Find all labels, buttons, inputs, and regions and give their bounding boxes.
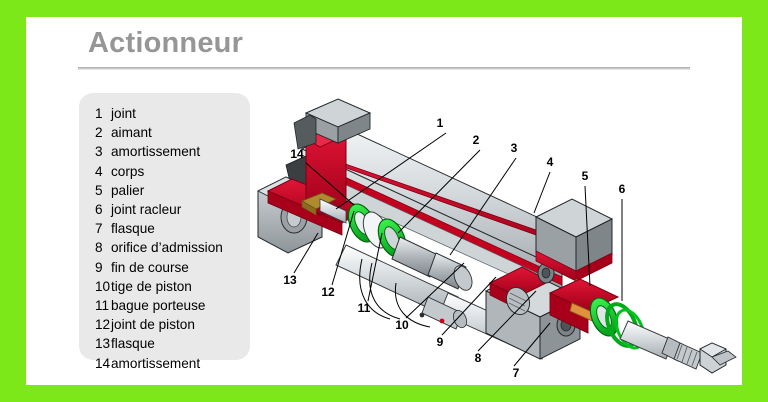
sensor-dot — [420, 313, 425, 318]
list-item: 9fin de course — [95, 258, 250, 277]
right-cap-hole-top-inner — [542, 268, 550, 278]
legend-label: amortissement — [111, 144, 200, 159]
list-item: 10tige de piston — [95, 277, 250, 296]
legend-number: 6 — [95, 200, 111, 219]
legend-label: joint racleur — [111, 202, 181, 217]
legend-label: orifice d’admission — [111, 240, 223, 255]
list-item: 2aimant — [95, 123, 250, 142]
list-item: 11bague porteuse — [95, 296, 250, 315]
output-rod-assembly — [620, 321, 736, 373]
mount-block-dark-face — [294, 115, 316, 149]
legend-number: 2 — [95, 123, 111, 142]
sensor-led — [440, 319, 445, 324]
legend-label: tige de piston — [111, 279, 192, 294]
legend-number: 5 — [95, 181, 111, 200]
callout-12: 12 — [321, 285, 335, 299]
legend-number: 4 — [95, 162, 111, 181]
legend-label: aimant — [111, 125, 152, 140]
legend-label: flasque — [111, 221, 155, 236]
legend-number: 12 — [95, 315, 111, 334]
callout-7: 7 — [513, 366, 520, 380]
legend-number: 13 — [95, 334, 111, 353]
leader-4 — [534, 172, 550, 213]
title-divider — [78, 67, 690, 70]
list-item: 1joint — [95, 104, 250, 123]
list-item: 6joint racleur — [95, 200, 250, 219]
callout-2: 2 — [473, 133, 480, 147]
list-item: 5palier — [95, 181, 250, 200]
slide-canvas: Actionneur 1joint 2aimant 3amortissement… — [26, 17, 742, 385]
legend-label: corps — [111, 164, 144, 179]
callout-3: 3 — [511, 141, 518, 155]
callout-9: 9 — [437, 335, 444, 349]
legend-label: amortissement — [111, 356, 200, 371]
callout-11: 11 — [358, 301, 371, 315]
legend-number: 7 — [95, 219, 111, 238]
parts-legend: 1joint 2aimant 3amortissement 4corps 5pa… — [79, 93, 250, 360]
callout-8: 8 — [475, 351, 482, 365]
callout-13: 13 — [283, 273, 297, 287]
callout-4: 4 — [547, 155, 554, 169]
legend-number: 3 — [95, 142, 111, 161]
list-item: 3amortissement — [95, 142, 250, 161]
legend-number: 8 — [95, 238, 111, 257]
legend-label: joint de piston — [111, 317, 195, 332]
list-item: 12joint de piston — [95, 315, 250, 334]
list-item: 7flasque — [95, 219, 250, 238]
actuator-cutaway-figure: 1 2 3 4 5 6 7 8 9 10 11 12 13 14 — [250, 87, 742, 385]
legend-number: 14 — [95, 354, 111, 373]
legend-number: 11 — [95, 296, 111, 315]
legend-label: flasque — [111, 336, 155, 351]
page-title: Actionneur — [88, 27, 243, 60]
legend-label: joint — [111, 106, 136, 121]
callout-14: 14 — [290, 147, 304, 161]
callout-10: 10 — [395, 318, 409, 332]
callout-1: 1 — [437, 116, 444, 130]
legend-number: 9 — [95, 258, 111, 277]
legend-number: 10 — [95, 277, 111, 296]
list-item: 13flasque — [95, 334, 250, 353]
legend-label: fin de course — [111, 260, 189, 275]
callout-6: 6 — [619, 182, 626, 196]
legend-number: 1 — [95, 104, 111, 123]
list-item: 14amortissement — [95, 354, 250, 373]
list-item: 8orifice d’admission — [95, 238, 250, 257]
legend-label: palier — [111, 183, 144, 198]
legend-label: bague porteuse — [111, 298, 205, 313]
list-item: 4corps — [95, 162, 250, 181]
callout-5: 5 — [582, 169, 589, 183]
